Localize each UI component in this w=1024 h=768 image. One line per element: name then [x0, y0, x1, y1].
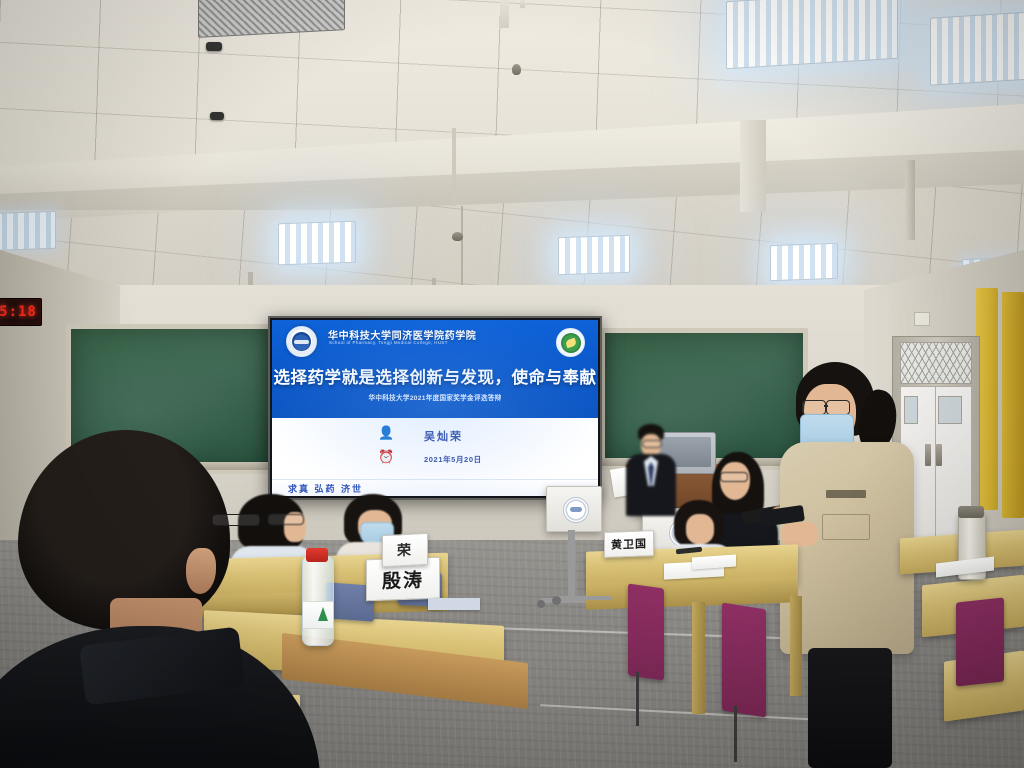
- wall-outlet: [914, 312, 930, 326]
- hust-university-emblem-icon: [286, 326, 317, 357]
- ceiling-lamp: [558, 235, 630, 276]
- ceiling-lamp: [0, 211, 56, 252]
- window-curtain: [1002, 292, 1024, 518]
- person-student-foreground: [0, 430, 310, 768]
- ceiling-lamp: [930, 10, 1024, 85]
- led-timer-display: 5:18: [0, 298, 42, 326]
- university-crest-icon: [563, 497, 589, 523]
- lecture-hall-photo: 5:18 华中科技大学同济医学院药学院 School of Pharmacy, …: [0, 0, 1024, 768]
- podium-stand: [568, 530, 575, 602]
- jacket-print: [826, 490, 866, 498]
- slide-date: 2021年5月20日: [424, 454, 482, 465]
- desk-leg: [692, 602, 705, 714]
- wall-pipe: [905, 160, 915, 240]
- slide-header-english: School of Pharmacy, Tongji Medical Colle…: [329, 340, 448, 345]
- standing-woman-glasses-icon: [826, 400, 850, 415]
- ceiling-pipe: [520, 0, 525, 8]
- chair-purple[interactable]: [628, 583, 664, 680]
- sprinkler-head: [452, 232, 463, 241]
- hanging-cable: [461, 206, 463, 290]
- ceiling-lamp: [726, 0, 898, 69]
- ceiling-lamp: [278, 221, 356, 266]
- standing-woman-hand: [782, 522, 818, 546]
- slide-presenter-name: 吴灿荣: [424, 428, 463, 444]
- stool-base: [556, 596, 612, 600]
- chair-purple[interactable]: [956, 597, 1004, 686]
- ceiling-lamp: [770, 243, 838, 281]
- presentation-slide: 华中科技大学同济医学院药学院 School of Pharmacy, Tongj…: [272, 320, 598, 496]
- student-face: [686, 514, 714, 544]
- projection-screen: 华中科技大学同济医学院药学院 School of Pharmacy, Tongj…: [268, 316, 602, 500]
- desk-leg: [790, 596, 802, 696]
- name-placard: 黄卫国: [604, 530, 654, 558]
- presenter-glasses-icon: [642, 440, 662, 448]
- placard-name-partial: 荣: [397, 540, 413, 561]
- led-timer-value: 5:18: [0, 304, 37, 320]
- judge-glasses-icon: [720, 472, 748, 482]
- ceiling-speaker: [210, 112, 224, 120]
- slide-title: 选择药学就是选择创新与发现，使命与奉献: [272, 364, 598, 388]
- jacket-pocket: [822, 514, 870, 540]
- placard-name: 黄卫国: [611, 535, 647, 552]
- emblem-inner: [292, 332, 311, 351]
- door-handle[interactable]: [936, 444, 942, 466]
- sprinkler-head: [512, 64, 521, 75]
- door-window: [938, 396, 962, 424]
- ceiling-duct: [500, 0, 509, 28]
- stool-caster: [552, 596, 561, 605]
- chair-leg: [734, 706, 737, 762]
- flask-cap: [958, 506, 984, 518]
- pharmacy-school-emblem-icon: [556, 328, 585, 357]
- hanging-rod: [452, 128, 456, 206]
- emblem-inner: [561, 333, 581, 353]
- slide-subtitle: 华中科技大学2021年度国家奖学金评选答辩: [272, 392, 598, 402]
- chair-leg: [636, 672, 639, 726]
- person-icon: 👤: [378, 426, 394, 439]
- door-handle[interactable]: [925, 444, 931, 466]
- soffit-column: [740, 120, 766, 212]
- alarm-clock-icon: ⏰: [378, 450, 394, 463]
- chair-purple[interactable]: [722, 603, 766, 718]
- standing-woman-glasses-icon: [802, 400, 826, 415]
- standing-woman-trousers: [808, 648, 892, 768]
- glasses-bridge: [824, 405, 828, 407]
- podium-caster: [537, 600, 545, 608]
- placard-name: 殷涛: [382, 565, 424, 593]
- name-placard-partial: 荣: [382, 533, 428, 567]
- speaker-podium: [546, 486, 602, 532]
- documents-on-desk: [428, 598, 480, 610]
- student-glasses-icon: [212, 514, 260, 526]
- ceiling-speaker: [206, 42, 222, 51]
